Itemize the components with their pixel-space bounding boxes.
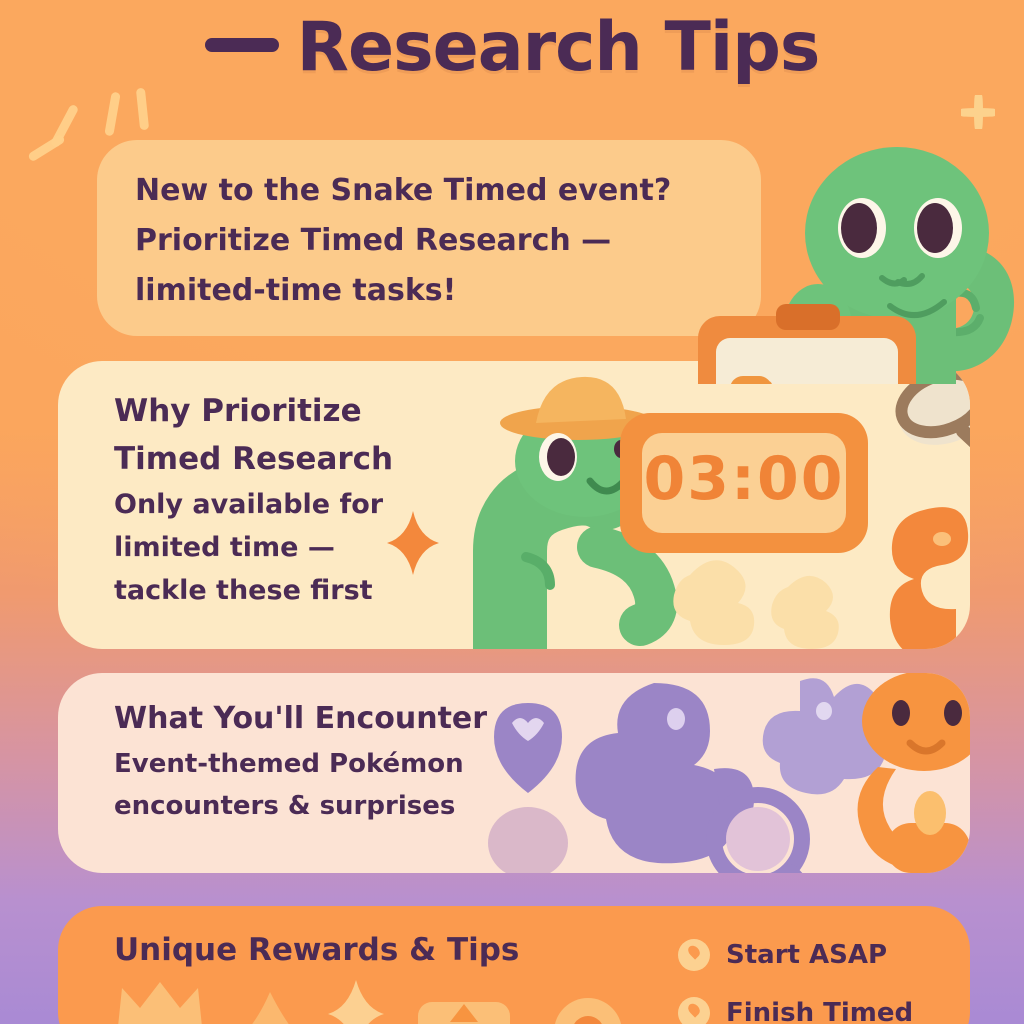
card2-body-line-3: tackle these first (114, 569, 454, 612)
card2-title-line-1: Why Prioritize (114, 387, 454, 435)
pin-icon (678, 997, 710, 1024)
card4-tips-list: Start ASAP Finish Timed (678, 926, 968, 1024)
card-why-prioritize[interactable]: 03:00 Why Prioritize Timed Research Only… (58, 361, 970, 649)
tip-label: Start ASAP (726, 940, 887, 970)
card-what-youll-encounter[interactable]: What You'll Encounter Event-themed Pokém… (58, 673, 970, 873)
card4-reward-icons (88, 966, 668, 1024)
title-dash (205, 38, 279, 52)
tip-label: Finish Timed (726, 998, 913, 1024)
title-text: Research Tips (297, 8, 820, 87)
card2-body-line-1: Only available for (114, 483, 454, 526)
sparkle-icon (328, 980, 384, 1024)
card2-text: Why Prioritize Timed Research Only avail… (114, 387, 454, 612)
ray-decor (27, 134, 66, 163)
ray-decor (136, 88, 149, 131)
infographic-poster: Research Tips New to the Snake Timed eve… (0, 0, 1024, 1024)
flame-icon (242, 992, 298, 1024)
card-intro-line-1: New to the Snake Timed event? (135, 166, 735, 216)
card3-text: What You'll Encounter Event-themed Pokém… (114, 695, 594, 827)
pin-icon (678, 939, 710, 971)
card-intro-text: New to the Snake Timed event? Prioritize… (135, 166, 735, 316)
snake-with-clipboard-art (650, 88, 1024, 384)
card3-title: What You'll Encounter (114, 695, 594, 743)
card3-body-line-2: encounters & surprises (114, 785, 594, 827)
ray-decor (104, 92, 121, 137)
card2-title-line-2: Timed Research (114, 435, 454, 483)
card2-body-line-2: limited time — (114, 526, 454, 569)
card-intro-line-3: limited-time tasks! (135, 266, 735, 316)
card-intro-line-2: Prioritize Timed Research — (135, 216, 735, 266)
magnifier-icon (714, 795, 820, 873)
page-title: Research Tips (0, 8, 1024, 87)
card3-body-line-1: Event-themed Pokémon (114, 743, 594, 785)
crown-icon (116, 982, 204, 1024)
orange-snake-art (856, 673, 970, 873)
card-unique-rewards[interactable]: Unique Rewards & Tips Start ASAP Finish … (58, 906, 970, 1024)
timer-value: 03:00 (642, 444, 846, 514)
tip-item[interactable]: Finish Timed (678, 984, 968, 1024)
tip-item[interactable]: Start ASAP (678, 926, 968, 984)
